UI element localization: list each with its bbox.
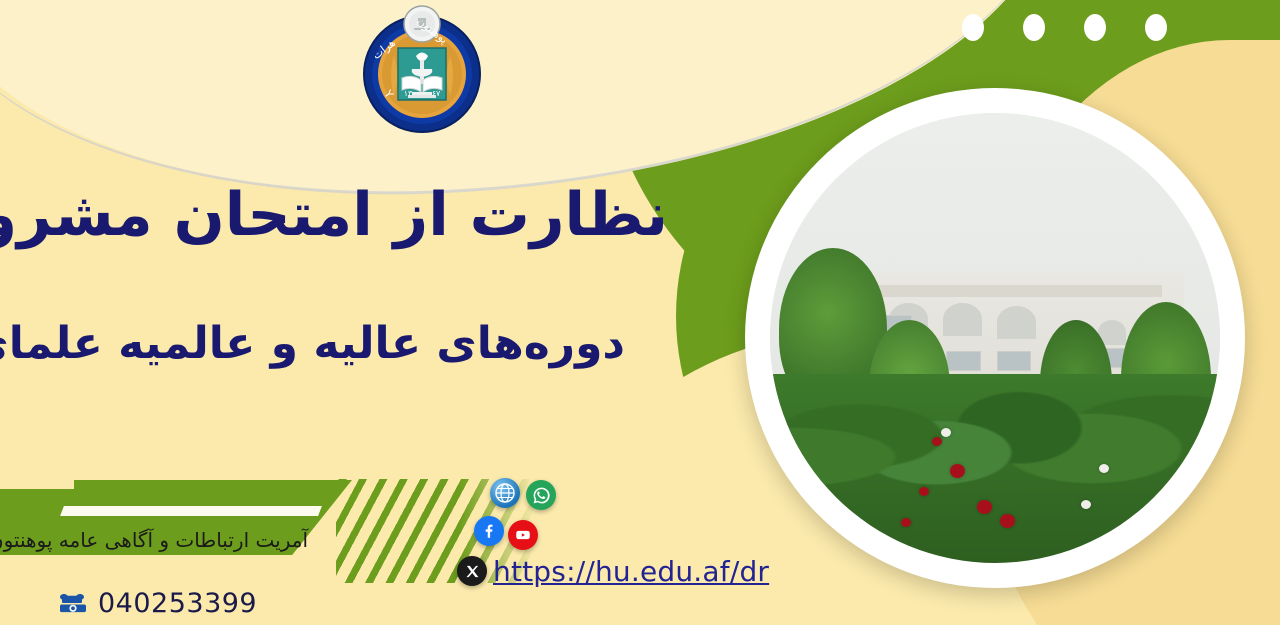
photo-rose-white bbox=[941, 428, 951, 437]
x-twitter-icon[interactable] bbox=[457, 556, 487, 586]
white-dot bbox=[962, 14, 984, 41]
photo-rose bbox=[919, 487, 929, 496]
department-label: آمریت ارتباطات و آگاهی عامه پوهنتون هرات bbox=[8, 528, 308, 552]
photo-rose bbox=[1000, 514, 1015, 528]
announcement-banner: ۱۳ ۶۷ HERAT UNIVERSITY هرات پوهنتون نظار… bbox=[0, 0, 1280, 625]
herat-university-building-photo bbox=[770, 113, 1220, 563]
photo-frame bbox=[745, 88, 1245, 588]
photo-arch bbox=[943, 303, 983, 336]
photo-window bbox=[946, 351, 980, 371]
telephone-icon bbox=[58, 591, 88, 617]
whatsapp-icon[interactable] bbox=[526, 480, 556, 510]
youtube-icon[interactable] bbox=[508, 520, 538, 550]
website-url-link[interactable]: https://hu.edu.af/dr bbox=[493, 555, 769, 588]
photo-rose-white bbox=[1099, 464, 1109, 473]
svg-text:۱۳: ۱۳ bbox=[404, 89, 413, 98]
white-dot bbox=[1023, 14, 1045, 41]
phone-number: 040253399 bbox=[98, 588, 257, 619]
photo-rose bbox=[950, 464, 965, 478]
photo-rose bbox=[901, 518, 911, 527]
photo-rose bbox=[932, 437, 942, 446]
green-bar-white-stripe bbox=[60, 506, 322, 516]
banner-headline: نظارت از امتحان مشروطین bbox=[8, 182, 668, 249]
photo-hedge bbox=[770, 374, 1220, 563]
photo-rose-white bbox=[1081, 500, 1091, 509]
photo-rose bbox=[977, 500, 992, 514]
white-dot-row bbox=[962, 14, 1167, 41]
website-globe-icon[interactable] bbox=[490, 478, 520, 508]
herat-university-seal: ۱۳ ۶۷ HERAT UNIVERSITY هرات پوهنتون bbox=[356, 4, 488, 136]
photo-arch bbox=[997, 306, 1037, 339]
facebook-icon[interactable] bbox=[474, 516, 504, 546]
svg-text:۶۷: ۶۷ bbox=[432, 89, 441, 98]
photo-window bbox=[997, 351, 1031, 371]
phone-contact: 040253399 bbox=[58, 588, 257, 619]
green-bar-notch bbox=[0, 480, 74, 489]
white-dot bbox=[1084, 14, 1106, 41]
white-dot bbox=[1145, 14, 1167, 41]
banner-subheadline: دوره‌های عالیه و عالمیه علمای کرام bbox=[0, 318, 625, 371]
